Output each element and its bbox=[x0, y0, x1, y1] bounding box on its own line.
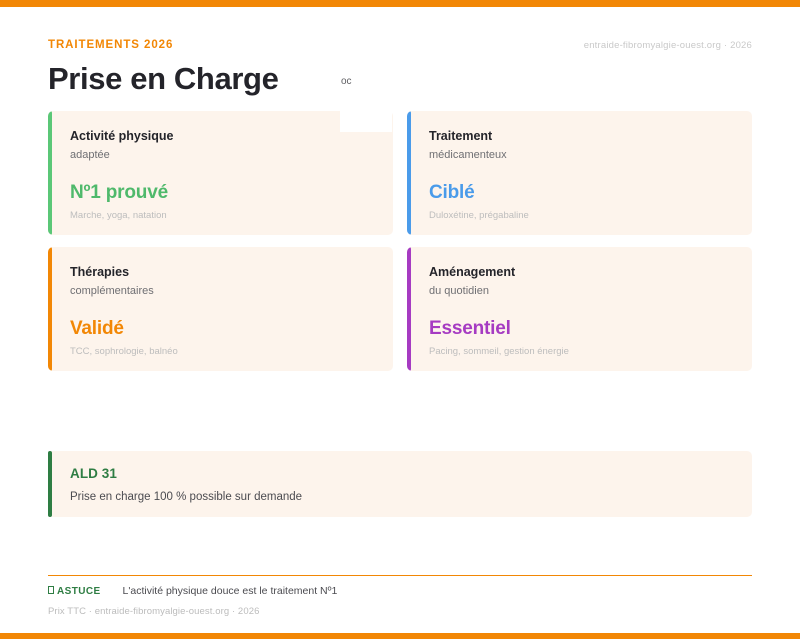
source-attribution: entraide-fibromyalgie-ouest.org · 2026 bbox=[584, 40, 752, 51]
tip-label: ASTUCE bbox=[48, 586, 101, 597]
render-artifact-text: oc bbox=[341, 76, 357, 87]
card-spacer bbox=[429, 163, 732, 184]
header-top-row: TRAITEMENTS 2026 entraide-fibromyalgie-o… bbox=[48, 39, 752, 51]
poster-page: TRAITEMENTS 2026 entraide-fibromyalgie-o… bbox=[0, 0, 800, 639]
card-note: Duloxétine, prégabaline bbox=[429, 210, 732, 221]
banner-accent-bar bbox=[48, 451, 52, 517]
card-title: Activité physique bbox=[70, 129, 373, 144]
page-footer: ASTUCE L'activité physique douce est le … bbox=[48, 575, 752, 618]
card-value: Validé bbox=[70, 319, 373, 340]
card-accent-bar bbox=[407, 247, 411, 371]
card-value: Essentiel bbox=[429, 319, 732, 340]
render-artifact-panel bbox=[340, 60, 392, 132]
tip-text: L'activité physique douce est le traitem… bbox=[123, 585, 338, 597]
missing-glyph-icon bbox=[48, 586, 54, 594]
banner-title: ALD 31 bbox=[70, 466, 732, 481]
footer-meta: Prix TTC · entraide-fibromyalgie-ouest.o… bbox=[48, 606, 752, 617]
card-subtitle: médicamenteux bbox=[429, 149, 732, 162]
card-note: Pacing, sommeil, gestion énergie bbox=[429, 346, 732, 357]
card-spacer bbox=[70, 299, 373, 320]
card-amenagement-quotidien[interactable]: Aménagement du quotidien Essentiel Pacin… bbox=[407, 247, 752, 371]
tip-label-text: ASTUCE bbox=[57, 586, 101, 597]
ald-banner[interactable]: ALD 31 Prise en charge 100 % possible su… bbox=[48, 451, 752, 517]
card-accent-bar bbox=[48, 247, 52, 371]
banner-description: Prise en charge 100 % possible sur deman… bbox=[70, 491, 732, 503]
card-accent-bar bbox=[48, 111, 52, 235]
card-spacer bbox=[429, 299, 732, 320]
card-title: Traitement bbox=[429, 129, 732, 144]
card-value: Ciblé bbox=[429, 183, 732, 204]
card-traitement-medicamenteux[interactable]: Traitement médicamenteux Ciblé Duloxétin… bbox=[407, 111, 752, 235]
eyebrow-label: TRAITEMENTS 2026 bbox=[48, 39, 173, 51]
content-area: TRAITEMENTS 2026 entraide-fibromyalgie-o… bbox=[0, 7, 800, 633]
card-therapies-complementaires[interactable]: Thérapies complémentaires Validé TCC, so… bbox=[48, 247, 393, 371]
card-subtitle: adaptée bbox=[70, 149, 373, 162]
bottom-accent-bar bbox=[0, 633, 800, 639]
card-note: Marche, yoga, natation bbox=[70, 210, 373, 221]
card-subtitle: complémentaires bbox=[70, 285, 373, 298]
card-note: TCC, sophrologie, balnéo bbox=[70, 346, 373, 357]
card-title: Aménagement bbox=[429, 265, 732, 280]
page-header: TRAITEMENTS 2026 entraide-fibromyalgie-o… bbox=[48, 7, 752, 95]
card-title: Thérapies bbox=[70, 265, 373, 280]
card-spacer bbox=[70, 163, 373, 184]
card-subtitle: du quotidien bbox=[429, 285, 732, 298]
card-value: Nº1 prouvé bbox=[70, 183, 373, 204]
top-accent-bar bbox=[0, 0, 800, 7]
metric-card-grid: Activité physique adaptée Nº1 prouvé Mar… bbox=[48, 111, 752, 371]
footer-divider bbox=[48, 575, 752, 577]
tip-row: ASTUCE L'activité physique douce est le … bbox=[48, 585, 752, 597]
card-accent-bar bbox=[407, 111, 411, 235]
page-title: Prise en Charge bbox=[48, 62, 752, 95]
